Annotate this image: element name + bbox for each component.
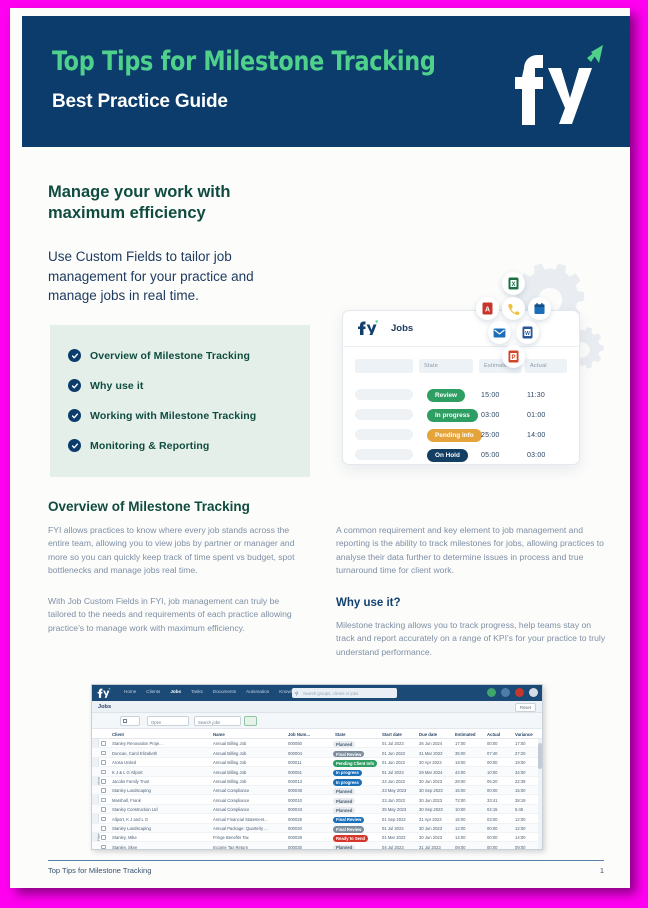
cell-job-num: 000004 <box>288 751 302 756</box>
state-badge: Planned <box>333 741 355 748</box>
cell-actual: 04:15 <box>487 807 497 812</box>
cell-job-num: 000013 <box>288 779 302 784</box>
checklist-item-label: Overview of Milestone Tracking <box>90 350 250 362</box>
cell-estimated: 28:00 <box>455 779 465 784</box>
state-badge: Planned <box>333 845 355 850</box>
intro-lede: Use Custom Fields to tailor job manageme… <box>48 247 300 306</box>
checklist-panel: Overview of Milestone Tracking Why use i… <box>50 325 310 477</box>
table-row[interactable]: Stanley LandscapingAnnual Compliance0000… <box>92 786 542 795</box>
cell-start: 01 Jul 2023 <box>382 770 404 775</box>
svg-text:P: P <box>511 355 515 361</box>
cell-job-num: 000030 <box>288 845 302 850</box>
footer-page-number: 1 <box>600 866 604 875</box>
reset-button[interactable]: Reset <box>515 703 536 712</box>
fyi-logo-small <box>357 320 379 340</box>
col-estimated[interactable]: Estimated <box>455 732 476 737</box>
cell-start: 23 Jun 2022 <box>382 798 405 803</box>
svg-text:X: X <box>511 282 515 288</box>
cell-variance: 09:00 <box>515 845 525 850</box>
cell-variance: 5:45 <box>515 807 523 812</box>
app-navbar: Home Clients Jobs Tasks Documents Automa… <box>92 685 542 701</box>
cell-due: 30 Sep 2023 <box>419 788 443 793</box>
cell-name: Income Tax Return <box>213 845 248 850</box>
app-page-title: Jobs <box>98 704 111 710</box>
cell-start: 01 Jul 2023 <box>382 741 404 746</box>
cell-name: Annual Billing Job <box>213 741 246 746</box>
col-job-number[interactable]: Job Num... <box>288 732 310 737</box>
cell-name: Annual Billing Job <box>213 770 246 775</box>
app-screenshot: Home Clients Jobs Tasks Documents Automa… <box>91 684 543 850</box>
cell-actual: 00:00 <box>487 760 497 765</box>
cell-client: Stanley Construction Ltd <box>112 807 158 812</box>
state-badge: Pending Client Info <box>333 760 377 767</box>
cell-name: Annual Compliance <box>213 807 249 812</box>
nav-item-documents[interactable]: Documents <box>213 689 236 694</box>
jobs-card-title: Jobs <box>391 323 413 334</box>
col-actual[interactable]: Actual <box>487 732 500 737</box>
cell-name: Annual Financial Statement... <box>213 817 268 822</box>
cell-client: Marshall, Frank <box>112 798 141 803</box>
cell-variance: 22:39 <box>515 779 525 784</box>
add-icon[interactable] <box>487 688 496 697</box>
powerpoint-file-icon: P <box>502 345 525 368</box>
footer-divider <box>48 860 604 861</box>
cell-client: Stanley Landscaping <box>112 788 151 793</box>
col-client[interactable]: Client <box>112 732 124 737</box>
col-due-date[interactable]: Due date <box>419 732 437 737</box>
col-variance[interactable]: Variance <box>515 732 533 737</box>
phone-call-icon <box>502 297 525 320</box>
row-checkbox[interactable] <box>101 760 106 765</box>
fyi-logo <box>494 42 606 128</box>
row-checkbox[interactable] <box>101 788 106 793</box>
table-row[interactable]: K J & L G AllportAnnual Billing Job00005… <box>92 767 542 776</box>
global-search-placeholder: Search groups, clients or jobs <box>303 691 358 696</box>
cell-client: Stanley, Mike <box>112 835 137 840</box>
cell-due: 30 Apr 2023 <box>419 760 442 765</box>
app-page-bar: Jobs Reset <box>92 701 542 713</box>
cell-actual: 03:00 <box>487 817 497 822</box>
jobs-table-header: Client Name Job Num... State Start date … <box>92 729 542 739</box>
estimated-value: 15:00 <box>481 392 500 399</box>
cell-variance: 17:00 <box>515 741 525 746</box>
page-title: Top Tips for Milestone Tracking <box>52 46 436 77</box>
cell-variance: 19:00 <box>515 760 525 765</box>
jobs-card: Jobs State Estimated Actual Review 15:00… <box>342 310 580 465</box>
check-circle-icon <box>68 409 81 422</box>
cell-start: 01 Jul 2022 <box>382 826 404 831</box>
row-checkbox[interactable] <box>101 751 106 756</box>
cell-actual: 00:00 <box>487 835 497 840</box>
jobs-illustration: Jobs State Estimated Actual Review 15:00… <box>336 262 616 482</box>
cell-due: 30 Jun 2023 <box>419 835 442 840</box>
cell-variance: 27:20 <box>515 751 525 756</box>
row-checkbox[interactable] <box>101 741 106 746</box>
cell-job-num: 000051 <box>288 770 302 775</box>
cell-job-num: 000020 <box>288 826 302 831</box>
table-row[interactable]: Marshall, FrankAnnual Compliance00001023… <box>92 795 542 804</box>
cell-estimated: 15:00 <box>455 817 465 822</box>
notifications-icon[interactable] <box>515 688 524 697</box>
cell-start: 01 Mar 2023 <box>382 835 406 840</box>
state-badge: Planned <box>333 798 355 805</box>
nav-item-automation[interactable]: Automation <box>246 689 269 694</box>
actual-value: 01:00 <box>527 412 546 419</box>
checklist-item: Monitoring & Reporting <box>68 439 209 452</box>
cell-due: 30 Jun 2023 <box>419 826 442 831</box>
document-header: Top Tips for Milestone Tracking Best Pra… <box>22 16 630 147</box>
word-file-icon: W <box>516 321 539 344</box>
row-placeholder-bar <box>355 429 413 440</box>
checklist-item: Working with Milestone Tracking <box>68 409 256 422</box>
email-envelope-icon <box>488 321 511 344</box>
checklist-item-label: Monitoring & Reporting <box>90 440 209 452</box>
nav-item-tasks[interactable]: Tasks <box>191 689 203 694</box>
cell-estimated: 72:00 <box>455 798 465 803</box>
overview-paragraph-2: With Job Custom Fields in FYI, job manag… <box>48 595 306 635</box>
check-circle-icon <box>68 349 81 362</box>
footer-text: Top Tips for Milestone Tracking <box>48 866 151 875</box>
status-filter-value: Open <box>151 720 161 725</box>
cell-variance: 15:00 <box>515 788 525 793</box>
state-badge: On Hold <box>427 449 468 462</box>
state-badge: Pending info <box>427 429 482 442</box>
state-badge: In progress <box>333 770 362 777</box>
row-checkbox[interactable] <box>101 770 106 775</box>
cell-estimated: 44:00 <box>455 770 465 775</box>
filter-icon[interactable] <box>244 716 257 726</box>
why-use-it-heading: Why use it? <box>336 597 401 609</box>
cell-actual: 05:20 <box>487 779 497 784</box>
cell-variance: 34:00 <box>515 770 525 775</box>
cell-start: 01 Jun 2022 <box>382 760 405 765</box>
cell-name: Annual Billing Job <box>213 760 246 765</box>
cell-actual: 00:00 <box>487 826 497 831</box>
column-header-state: State <box>419 359 473 373</box>
state-badge: In progress <box>333 779 362 786</box>
document-body: Manage your work with maximum efficiency… <box>22 147 630 896</box>
app-toolbar: Open Search jobs <box>92 713 542 729</box>
cell-estimated: 14:00 <box>455 835 465 840</box>
row-checkbox[interactable] <box>101 835 106 840</box>
fyi-logo-nav <box>97 687 111 700</box>
actual-value: 14:00 <box>527 432 546 439</box>
cell-client: Stanley Renovation Proje... <box>112 741 163 746</box>
cell-estimated: 15:00 <box>455 788 465 793</box>
intro-heading: Manage your work with maximum efficiency <box>48 182 298 224</box>
state-badge: Final Review <box>333 826 364 833</box>
state-badge: Final Review <box>333 817 364 824</box>
cell-estimated: 35:00 <box>455 751 465 756</box>
cell-estimated: 10:00 <box>455 807 465 812</box>
estimated-value: 25:00 <box>481 432 500 439</box>
cell-actual: 00:00 <box>487 788 497 793</box>
cell-due: 30 Sep 2023 <box>419 807 443 812</box>
check-circle-icon <box>68 439 81 452</box>
cell-client: Allport, K J and L G <box>112 817 148 822</box>
cell-due: 31 Mar 2023 <box>419 751 443 756</box>
column-header-actual: Actual <box>525 359 567 373</box>
actual-value: 03:00 <box>527 452 546 459</box>
state-badge: In progress <box>427 409 478 422</box>
scrollbar-thumb[interactable] <box>538 743 542 769</box>
jobs-table-body: Stanley Renovation Proje...Annual Billin… <box>92 739 542 850</box>
table-row[interactable]: Allport, K J and L GAnnual Financial Sta… <box>92 814 542 823</box>
cell-client: Jacobs Family Trust <box>112 779 149 784</box>
app-nav-right <box>487 688 538 697</box>
select-all-dropdown[interactable] <box>120 716 140 726</box>
cell-start: 04 Jul 2023 <box>382 845 404 850</box>
cell-client: Stanley Landscaping <box>112 826 151 831</box>
status-filter-dropdown[interactable]: Open <box>147 716 189 726</box>
nav-item-clients[interactable]: Clients <box>146 689 160 694</box>
overview-paragraph-1: FYI allows practices to know where every… <box>48 524 306 577</box>
jobs-card-columns: State Estimated Actual <box>355 359 569 373</box>
cell-job-num: 000048 <box>288 788 302 793</box>
calendar-icon <box>528 297 551 320</box>
row-checkbox[interactable] <box>101 779 106 784</box>
excel-file-icon: X <box>502 272 525 295</box>
row-placeholder-bar <box>355 409 413 420</box>
state-badge: Ready to Send <box>333 835 368 842</box>
search-icon: ⚲ <box>295 691 298 697</box>
cell-client: Duncan, Carol Elizabeth <box>112 751 157 756</box>
cell-variance: 12:00 <box>515 826 525 831</box>
actual-value: 11:30 <box>527 392 545 399</box>
cell-name: Annual Billing Job <box>213 779 246 784</box>
state-badge: Planned <box>333 807 355 814</box>
check-circle-icon <box>68 379 81 392</box>
row-checkbox[interactable] <box>101 798 106 803</box>
cell-name: Annual Compliance <box>213 788 249 793</box>
column-header-blank <box>355 359 413 373</box>
cell-job-num: 000043 <box>288 807 302 812</box>
col-start-date[interactable]: Start date <box>382 732 402 737</box>
table-row[interactable]: Stanley Renovation Proje...Annual Billin… <box>92 739 542 748</box>
right-paragraph-1: A common requirement and key element to … <box>336 524 606 577</box>
checklist-item-label: Why use it <box>90 380 144 392</box>
cell-variance: 12:00 <box>515 817 525 822</box>
global-search-input[interactable]: ⚲ Search groups, clients or jobs <box>292 688 397 698</box>
nav-item-jobs[interactable]: Jobs <box>170 689 181 694</box>
overview-heading: Overview of Milestone Tracking <box>48 499 308 514</box>
cell-job-num: 000011 <box>288 760 302 765</box>
estimated-value: 03:00 <box>481 412 500 419</box>
row-placeholder-bar <box>355 389 413 400</box>
cell-client: K J & L G Allport <box>112 770 143 775</box>
cell-estimated: 19:00 <box>455 760 465 765</box>
user-avatar-icon[interactable] <box>529 688 538 697</box>
row-checkbox[interactable] <box>101 845 106 850</box>
row-checkbox[interactable] <box>101 826 106 831</box>
cell-start: 22 Jun 2022 <box>382 779 405 784</box>
cell-variance: 38:19 <box>515 798 525 803</box>
table-row[interactable]: Arosa UnitedAnnual Billing Job00001101 J… <box>92 758 542 767</box>
jobs-search-input[interactable]: Search jobs <box>194 716 241 726</box>
cell-name: Annual Compliance <box>213 798 249 803</box>
cell-client: Stanley, Skye <box>112 845 137 850</box>
checklist-item-label: Working with Milestone Tracking <box>90 410 256 422</box>
cell-due: 29 Mar 2024 <box>419 770 443 775</box>
svg-text:W: W <box>525 331 530 337</box>
cell-name: Annual Billing Job <box>213 751 246 756</box>
cell-estimated: 17:00 <box>455 741 465 746</box>
vertical-scrollbar[interactable] <box>538 739 542 849</box>
column-label: Actual <box>530 363 547 369</box>
svg-text:A: A <box>485 307 490 314</box>
table-row[interactable]: Stanley, MikeFringe Benefits Tax00002801… <box>92 833 542 842</box>
cell-actual: 00:00 <box>487 845 497 850</box>
cell-due: 31 Apr 2023 <box>419 817 442 822</box>
cell-job-num: 000010 <box>288 798 302 803</box>
cell-start: 23 May 2023 <box>382 788 406 793</box>
state-badge: Final Review <box>333 751 364 758</box>
page-subtitle: Best Practice Guide <box>52 91 228 113</box>
checklist-item: Why use it <box>68 379 144 392</box>
state-badge: Planned <box>333 788 355 795</box>
table-row[interactable]: Stanley LandscapingAnnual Package: Quart… <box>92 824 542 833</box>
state-badge: Review <box>427 389 465 402</box>
row-checkbox[interactable] <box>101 807 106 812</box>
cell-start: 01 Jun 2022 <box>382 751 405 756</box>
cell-actual: 33:41 <box>487 798 497 803</box>
cell-job-num: 000029 <box>288 817 302 822</box>
cell-due: 26 Jun 2024 <box>419 741 442 746</box>
checklist-item: Overview of Milestone Tracking <box>68 349 250 362</box>
cell-job-num: 000050 <box>288 741 302 746</box>
table-row[interactable]: Stanley Construction LtdAnnual Complianc… <box>92 805 542 814</box>
cell-due: 31 Jul 2023 <box>419 845 441 850</box>
col-name[interactable]: Name <box>213 732 225 737</box>
estimated-value: 05:00 <box>481 452 500 459</box>
cell-start: 25 May 2023 <box>382 807 406 812</box>
help-icon[interactable] <box>501 688 510 697</box>
cell-job-num: 000028 <box>288 835 302 840</box>
cell-actual: 10:00 <box>487 770 497 775</box>
jobs-search-value: Search jobs <box>198 720 220 725</box>
column-label: State <box>424 363 438 369</box>
table-row[interactable]: Jacobs Family TrustAnnual Billing Job000… <box>92 777 542 786</box>
cell-variance: 14:00 <box>515 835 525 840</box>
why-use-it-paragraph: Milestone tracking allows you to track p… <box>336 619 606 659</box>
pdf-file-icon: A <box>476 297 499 320</box>
cell-actual: 00:00 <box>487 741 497 746</box>
table-row[interactable]: Duncan, Carol ElizabethAnnual Billing Jo… <box>92 748 542 757</box>
cell-client: Arosa United <box>112 760 136 765</box>
cell-start: 01 Sep 2022 <box>382 817 406 822</box>
cell-name: Annual Package: Quarterly ... <box>213 826 268 831</box>
document-page: Top Tips for Milestone Tracking Best Pra… <box>10 8 630 888</box>
table-row[interactable]: Stanley, SkyeIncome Tax Return00003004 J… <box>92 842 542 850</box>
cell-due: 30 Jun 2023 <box>419 779 442 784</box>
nav-item-home[interactable]: Home <box>124 689 136 694</box>
col-state[interactable]: State <box>335 732 346 737</box>
cell-estimated: 09:00 <box>455 845 465 850</box>
cell-name: Fringe Benefits Tax <box>213 835 249 840</box>
row-checkbox[interactable] <box>101 817 106 822</box>
cell-actual: 07:40 <box>487 751 497 756</box>
row-placeholder-bar <box>355 449 413 460</box>
cell-due: 30 Jun 2023 <box>419 798 442 803</box>
cell-estimated: 12:00 <box>455 826 465 831</box>
